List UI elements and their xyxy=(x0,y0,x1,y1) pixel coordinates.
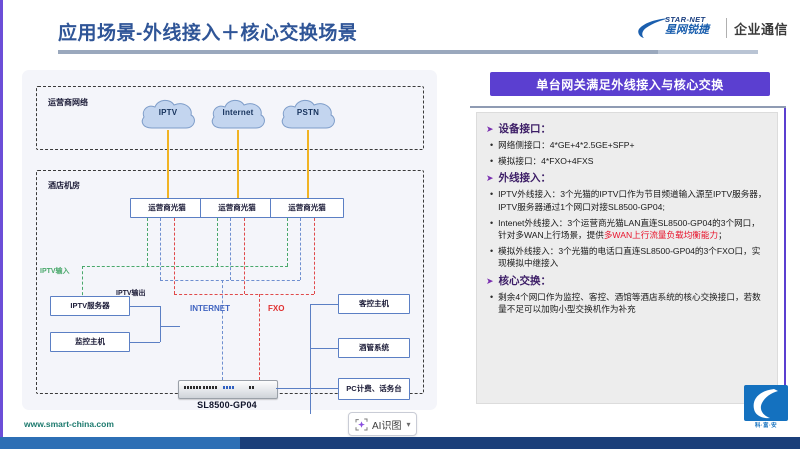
line-fxo-bus xyxy=(174,294,314,295)
logo-divider xyxy=(726,18,727,38)
bullet-item: •网络侧接口：4*GE+4*2.5GE+SFP+ xyxy=(486,139,768,151)
network-topology-diagram: 运营商网络 酒店机房 IPTV Internet PSTN xyxy=(22,70,437,410)
corner-logo-square xyxy=(744,385,788,421)
bullet-item: •IPTV外线接入：3个光猫的IPTV口作为节目频道输入源至IPTV服务器，IP… xyxy=(486,188,768,212)
bullet-dot-icon: • xyxy=(486,245,493,257)
left-purple-edge xyxy=(0,0,3,449)
link-iptv-riser xyxy=(167,130,169,198)
switch-uplink-port xyxy=(232,386,234,389)
section-heading-2: ➤核心交换： xyxy=(486,274,768,288)
cloud-pstn-label: PSTN xyxy=(278,108,338,117)
box-hotel-management-system: 酒管系统 xyxy=(338,338,410,358)
bullet-dot-icon: • xyxy=(486,291,493,303)
line-fxo-to-switch xyxy=(259,294,260,380)
switch-port xyxy=(209,386,211,389)
brand-logo: STAR-NET 星网锐捷 企业通信 xyxy=(637,14,788,42)
cloud-iptv-label: IPTV xyxy=(138,108,198,117)
bullet-text: 模拟接口：4*FXO+4FXS xyxy=(498,155,593,167)
box-label: 运营商光猫 xyxy=(218,203,256,212)
right-panel-purple-edge xyxy=(784,108,786,404)
cloud-internet: Internet xyxy=(208,96,268,132)
section-heading-1: ➤外线接入： xyxy=(486,171,768,185)
slide-header: 应用场景-外线接入＋核心交换场景 STAR-NET 星网锐捷 企业通信 xyxy=(0,0,800,58)
bullet-dot-icon: • xyxy=(486,155,493,167)
box-label: 运营商光猫 xyxy=(148,203,186,212)
zone-carrier-label: 运营商网络 xyxy=(48,97,88,108)
box-label: 运营商光猫 xyxy=(288,203,326,212)
logo-cn-text: 星网锐捷 xyxy=(665,25,709,36)
box-label: 监控主机 xyxy=(75,337,105,346)
chevron-down-icon[interactable]: ▾ xyxy=(406,420,410,429)
tag-iptv-input: IPTV输入 xyxy=(40,266,70,276)
plain-text: 网络侧接口：4*GE+4*2.5GE+SFP+ xyxy=(498,140,634,150)
bullet-dot-icon: • xyxy=(486,188,493,200)
link-pstn-riser xyxy=(307,130,309,198)
box-iptv-server: IPTV服务器 xyxy=(50,296,130,316)
switch-port xyxy=(196,386,198,389)
cloud-internet-label: Internet xyxy=(208,108,268,117)
arrow-bullet-icon: ➤ xyxy=(486,274,494,288)
switch-port xyxy=(249,386,251,389)
line-iptv-bus xyxy=(82,266,288,267)
line-iptvserver-out xyxy=(130,306,160,307)
line-internet-leg-3 xyxy=(300,218,301,280)
line-right-2 xyxy=(310,348,338,349)
ai-sparkle-icon xyxy=(355,418,368,431)
bullet-text: Intenet外线接入：3个运营商光猫LAN直连SL8500-GP04的3个网口… xyxy=(498,217,768,241)
line-right-collector xyxy=(310,304,311,414)
tag-internet: INTERNET xyxy=(190,304,230,313)
switch-port xyxy=(215,386,217,389)
line-fxo-leg-3 xyxy=(314,218,315,294)
cloud-iptv: IPTV xyxy=(138,96,198,132)
plain-text: 模拟外线接入：3个光猫的电话口直连SL8500-GP04的3个FXO口，实现模拟… xyxy=(498,246,760,268)
bullet-item: •Intenet外线接入：3个运营商光猫LAN直连SL8500-GP04的3个网… xyxy=(486,217,768,241)
site-url[interactable]: www.smart-china.com xyxy=(24,419,114,429)
corner-logo-text: 科·富·安 xyxy=(744,421,788,429)
line-internet-to-switch xyxy=(222,280,223,380)
bullet-text: 剩余4个网口作为监控、客控、酒馆等酒店系统的核心交换接口，若数量不足可以加购小型… xyxy=(498,291,768,315)
arrow-bullet-icon: ➤ xyxy=(486,122,494,136)
title-underline-rule-dark xyxy=(58,50,658,54)
line-internet-bus xyxy=(160,280,300,281)
line-right-1 xyxy=(310,304,338,305)
box-label: IPTV服务器 xyxy=(70,301,109,310)
box-carrier-modem-3: 运营商光猫 xyxy=(270,198,344,218)
switch-port xyxy=(212,386,214,389)
line-right-3 xyxy=(310,388,338,389)
switch-port xyxy=(193,386,195,389)
line-fxo-leg-1 xyxy=(174,218,175,294)
bullet-item: •模拟外线接入：3个光猫的电话口直连SL8500-GP04的3个FXO口，实现模… xyxy=(486,245,768,269)
line-switch-to-right xyxy=(276,388,310,389)
bullet-dot-icon: • xyxy=(486,217,493,229)
line-monitorhost-out xyxy=(130,342,160,343)
section-title: 外线接入： xyxy=(499,171,552,185)
arrow-bullet-icon: ➤ xyxy=(486,171,494,185)
switch-port xyxy=(184,386,186,389)
box-label: 酒管系统 xyxy=(359,343,389,352)
box-pc-billing-console: PC计费、话务台 xyxy=(338,378,410,400)
switch-port xyxy=(206,386,208,389)
plain-text: ； xyxy=(718,230,727,240)
switch-port xyxy=(252,386,254,389)
box-guest-control-host: 客控主机 xyxy=(338,294,410,314)
switch-port xyxy=(190,386,192,389)
line-iptv-leg-2 xyxy=(217,218,218,266)
star-net-logo-mark: STAR-NET 星网锐捷 xyxy=(637,15,719,41)
right-panel-title: 单台网关满足外线接入与核心交换 xyxy=(490,72,770,96)
device-model-label: SL8500-GP04 xyxy=(162,400,292,410)
bullet-item: •模拟接口：4*FXO+4FXS xyxy=(486,155,768,167)
section-heading-0: ➤设备接口： xyxy=(486,122,768,136)
ai-button-label: AI识图 xyxy=(372,417,401,432)
section-title: 核心交换： xyxy=(499,274,552,288)
tag-fxo: FXO xyxy=(268,304,284,313)
plain-text: IPTV外线接入：3个光猫的IPTV口作为节目频道输入源至IPTV服务器，IPT… xyxy=(498,189,766,211)
right-panel-rule xyxy=(470,106,786,108)
right-info-panel: 单台网关满足外线接入与核心交换 ➤设备接口：•网络侧接口：4*GE+4*2.5G… xyxy=(470,66,786,410)
switch-port xyxy=(203,386,205,389)
section-title: 设备接口： xyxy=(499,122,552,136)
box-carrier-modem-2: 运营商光猫 xyxy=(200,198,274,218)
bullet-text: IPTV外线接入：3个光猫的IPTV口作为节目频道输入源至IPTV服务器，IPT… xyxy=(498,188,768,212)
device-sl8500-gp04 xyxy=(178,380,278,399)
line-internet-leg-1 xyxy=(160,218,161,280)
line-left-collector xyxy=(160,306,161,342)
corner-partner-logo: 科·富·安 xyxy=(744,385,788,431)
box-carrier-modem-1: 运营商光猫 xyxy=(130,198,204,218)
bullet-text: 模拟外线接入：3个光猫的电话口直连SL8500-GP04的3个FXO口，实现模拟… xyxy=(498,245,768,269)
highlighted-text: 多WAN上行流量负载均衡能力 xyxy=(604,230,718,240)
cloud-pstn: PSTN xyxy=(278,96,338,132)
line-iptv-leg-3 xyxy=(287,218,288,266)
bullet-text: 网络侧接口：4*GE+4*2.5GE+SFP+ xyxy=(498,139,634,151)
switch-uplink-port xyxy=(226,386,228,389)
switch-port xyxy=(199,386,201,389)
line-fxo-leg-2 xyxy=(244,218,245,294)
page-title: 应用场景-外线接入＋核心交换场景 xyxy=(58,18,357,45)
switch-uplink-port xyxy=(223,386,225,389)
logo-subtitle: 企业通信 xyxy=(734,19,788,38)
zone-hotel-label: 酒店机房 xyxy=(48,180,80,191)
bottom-bar-accent xyxy=(0,437,240,449)
box-label: PC计费、话务台 xyxy=(346,384,401,393)
box-monitor-host: 监控主机 xyxy=(50,332,130,352)
switch-port xyxy=(187,386,189,389)
logo-en-text: STAR-NET xyxy=(665,16,709,24)
plain-text: 剩余4个网口作为监控、客控、酒馆等酒店系统的核心交换接口，若数量不足可以加购小型… xyxy=(498,292,761,314)
right-panel-body: ➤设备接口：•网络侧接口：4*GE+4*2.5GE+SFP+•模拟接口：4*FX… xyxy=(476,112,778,404)
ai-image-recognition-button[interactable]: AI识图 ▾ xyxy=(348,412,417,436)
crescent-c-icon xyxy=(744,385,788,421)
slide-canvas: 应用场景-外线接入＋核心交换场景 STAR-NET 星网锐捷 企业通信 运营商网… xyxy=(0,0,800,449)
bullet-item: •剩余4个网口作为监控、客控、酒馆等酒店系统的核心交换接口，若数量不足可以加购小… xyxy=(486,291,768,315)
line-left-to-switch xyxy=(160,326,180,327)
switch-uplink-port xyxy=(229,386,231,389)
logo-wordmark: STAR-NET 星网锐捷 xyxy=(665,16,709,36)
plain-text: 模拟接口：4*FXO+4FXS xyxy=(498,156,593,166)
line-internet-leg-2 xyxy=(230,218,231,280)
bullet-dot-icon: • xyxy=(486,139,493,151)
line-iptv-leg-1 xyxy=(147,218,148,266)
link-internet-riser xyxy=(237,130,239,198)
box-label: 客控主机 xyxy=(359,299,389,308)
